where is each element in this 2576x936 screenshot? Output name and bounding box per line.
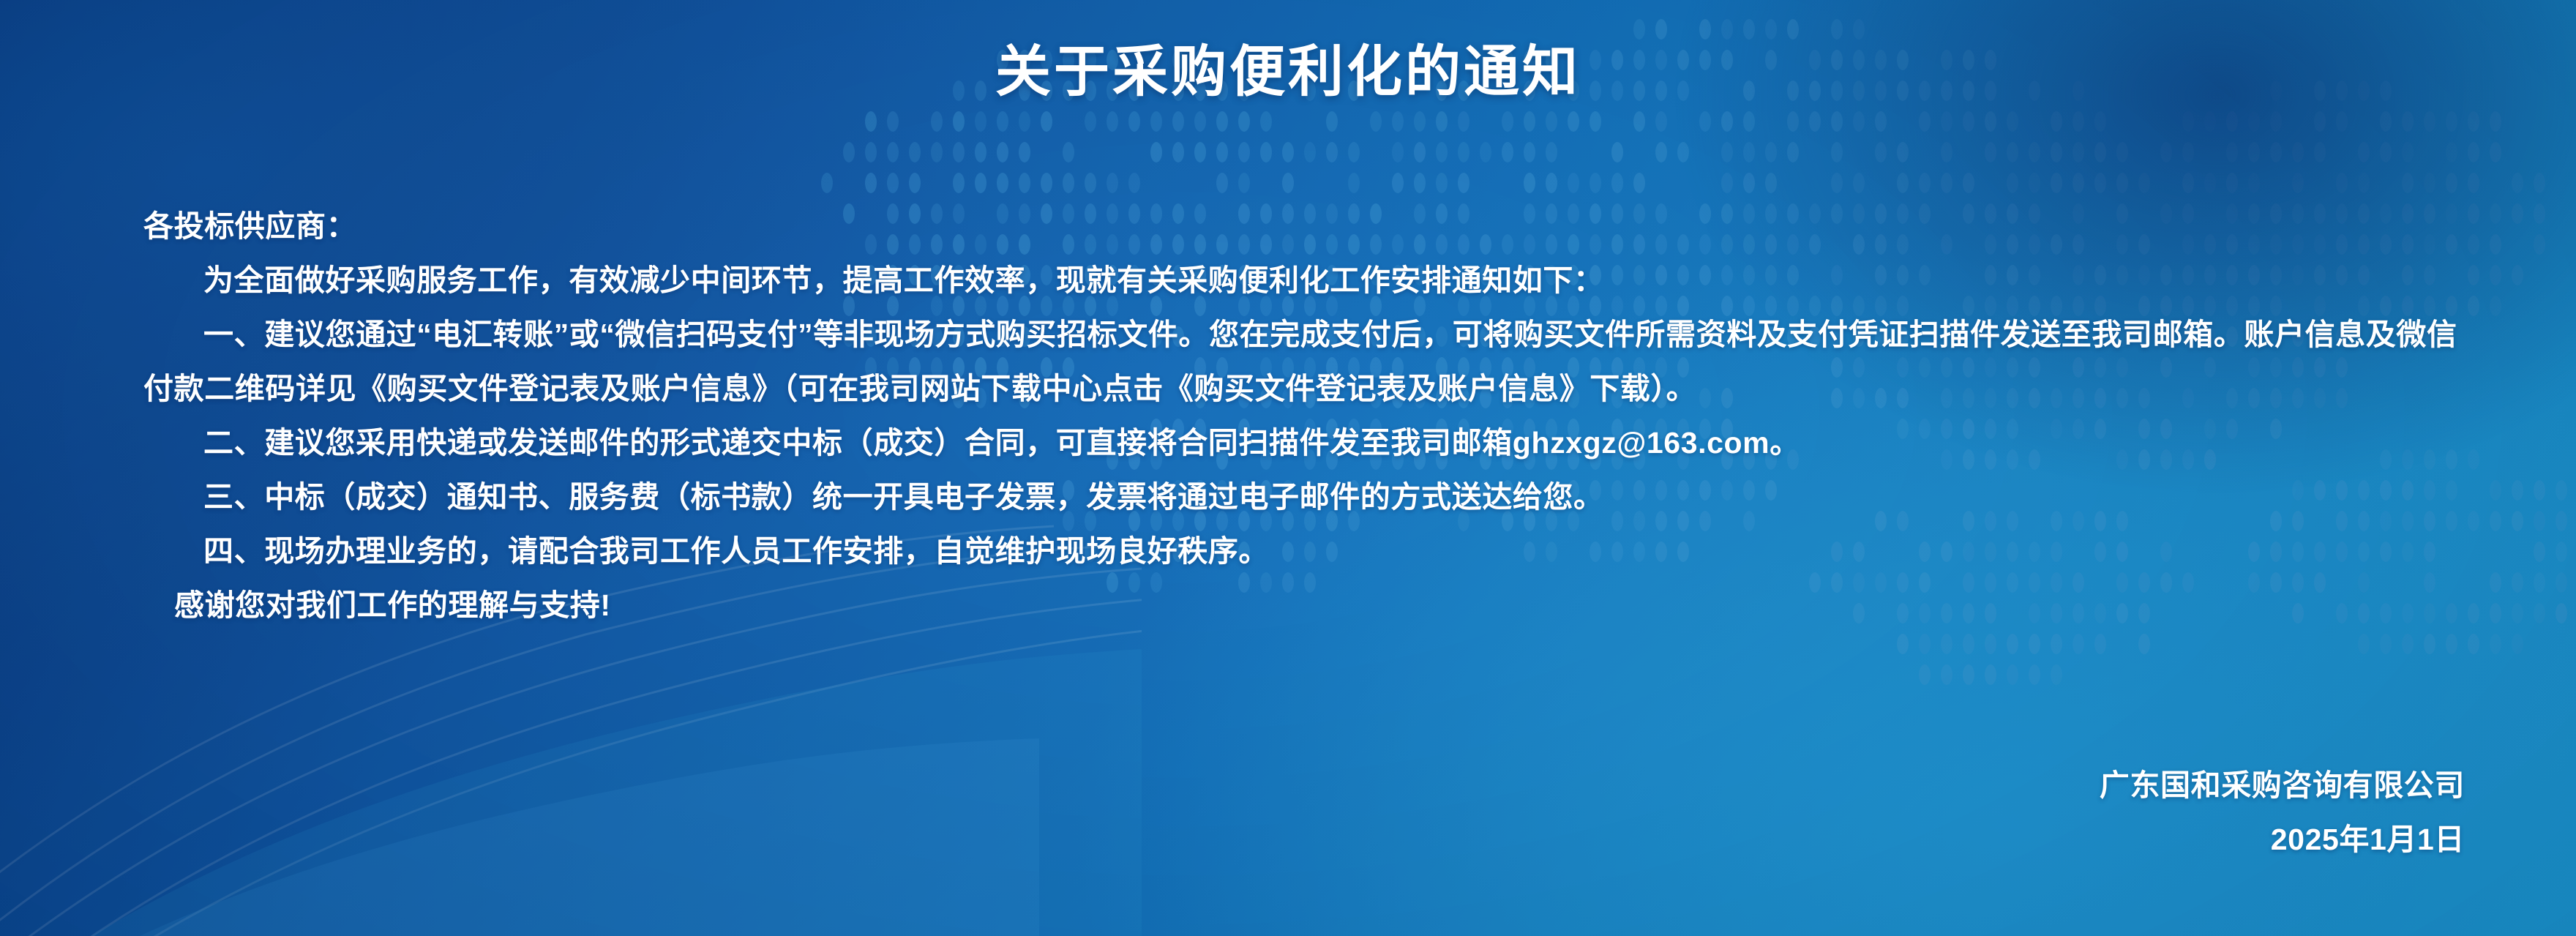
notice-body: 各投标供应商： 为全面做好采购服务工作，有效减少中间环节，提高工作效率，现就有关…	[143, 199, 2485, 632]
paragraph-item-4: 四、现场办理业务的，请配合我司工作人员工作安排，自觉维护现场良好秩序。	[143, 524, 2485, 578]
paragraph-item-3: 三、中标（成交）通知书、服务费（标书款）统一开具电子发票，发票将通过电子邮件的方…	[143, 470, 2485, 524]
salutation: 各投标供应商：	[143, 199, 2485, 253]
paragraph-item-2: 二、建议您采用快递或发送邮件的形式递交中标（成交）合同，可直接将合同扫描件发至我…	[143, 416, 2485, 470]
signature-company: 广东国和采购咨询有限公司	[2100, 758, 2465, 812]
signature-date: 2025年1月1日	[2100, 812, 2465, 866]
paragraph-intro: 为全面做好采购服务工作，有效减少中间环节，提高工作效率，现就有关采购便利化工作安…	[143, 253, 2485, 307]
signature-block: 广东国和采购咨询有限公司 2025年1月1日	[2100, 758, 2465, 866]
page-title: 关于采购便利化的通知	[0, 26, 2576, 107]
closing-line: 感谢您对我们工作的理解与支持!	[143, 578, 2485, 632]
paragraph-item-1: 一、建议您通过“电汇转账”或“微信扫码支付”等非现场方式购买招标文件。您在完成支…	[143, 307, 2485, 416]
notice-banner: 关于采购便利化的通知 各投标供应商： 为全面做好采购服务工作，有效减少中间环节，…	[0, 0, 2576, 936]
